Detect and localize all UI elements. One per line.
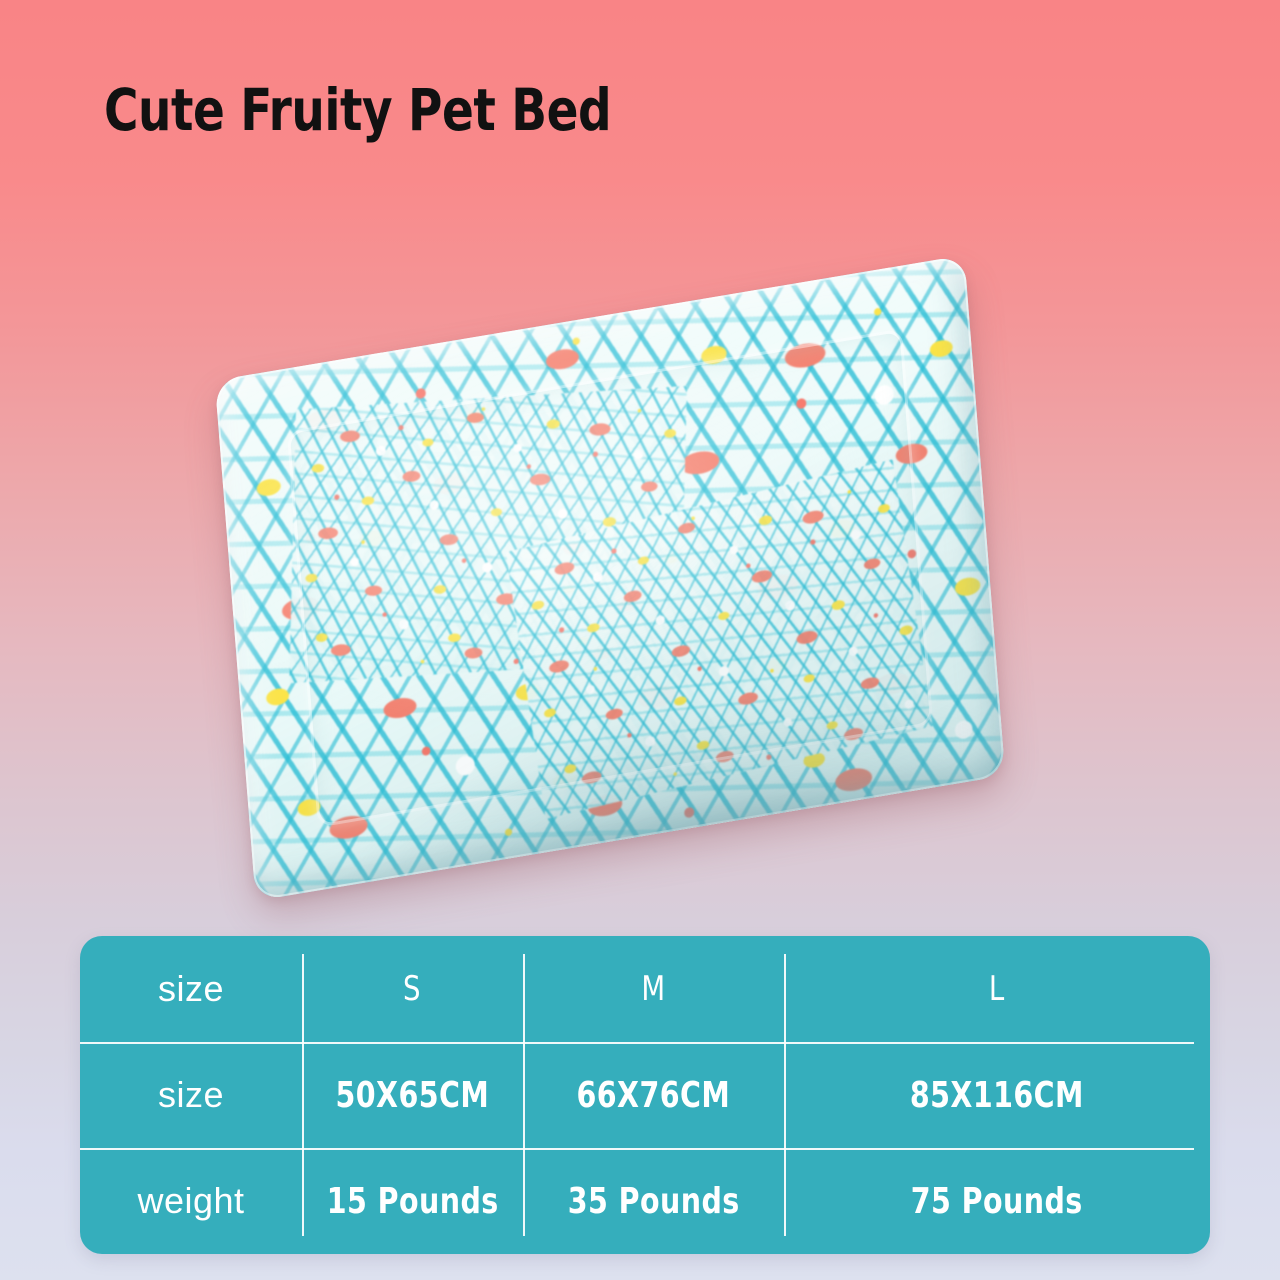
table-row: size 50X65CM 66X76CM 85X116CM [80,1042,1210,1148]
row-label-text: weight [137,1180,244,1222]
row-label-text: size [158,968,224,1010]
product-image-canvas: Cute Fruity Pet Bed size S M [0,0,1280,1280]
cell-text: 75 Pounds [911,1181,1083,1222]
size-spec-table: size S M L size 50X65CM 66X76CM 85X [80,936,1210,1254]
cell-text: 66X76CM [577,1075,731,1116]
cell-row-label: weight [80,1148,302,1254]
cell-row-label: size [80,1042,302,1148]
row-label-text: size [158,1074,224,1116]
fabric-print [215,255,1006,901]
cell-weight-m: 35 Pounds [523,1148,784,1254]
cell-text: 50X65CM [336,1075,490,1116]
cell-row-label: size [80,936,302,1042]
cell-weight-s: 15 Pounds [302,1148,523,1254]
pet-bed-mat [215,255,1006,901]
cell-dimensions-l: 85X116CM [784,1042,1210,1148]
cell-size-s: S [302,936,523,1042]
cell-dimensions-m: 66X76CM [523,1042,784,1148]
table-row: size S M L [80,936,1210,1042]
page-title: Cute Fruity Pet Bed [104,76,611,144]
cell-text: 85X116CM [910,1075,1084,1116]
cell-size-l: L [784,936,1210,1042]
cell-size-m: M [523,936,784,1042]
cell-dimensions-s: 50X65CM [302,1042,523,1148]
product-photo [155,265,1065,890]
table-row: weight 15 Pounds 35 Pounds 75 Pounds [80,1148,1210,1254]
fabric-print-base [215,255,1006,901]
cell-text: 15 Pounds [327,1181,499,1222]
cell-text: S [403,969,421,1009]
cell-text: M [641,969,666,1009]
cell-weight-l: 75 Pounds [784,1148,1210,1254]
cell-text: 35 Pounds [568,1181,740,1222]
cell-text: L [989,969,1005,1009]
